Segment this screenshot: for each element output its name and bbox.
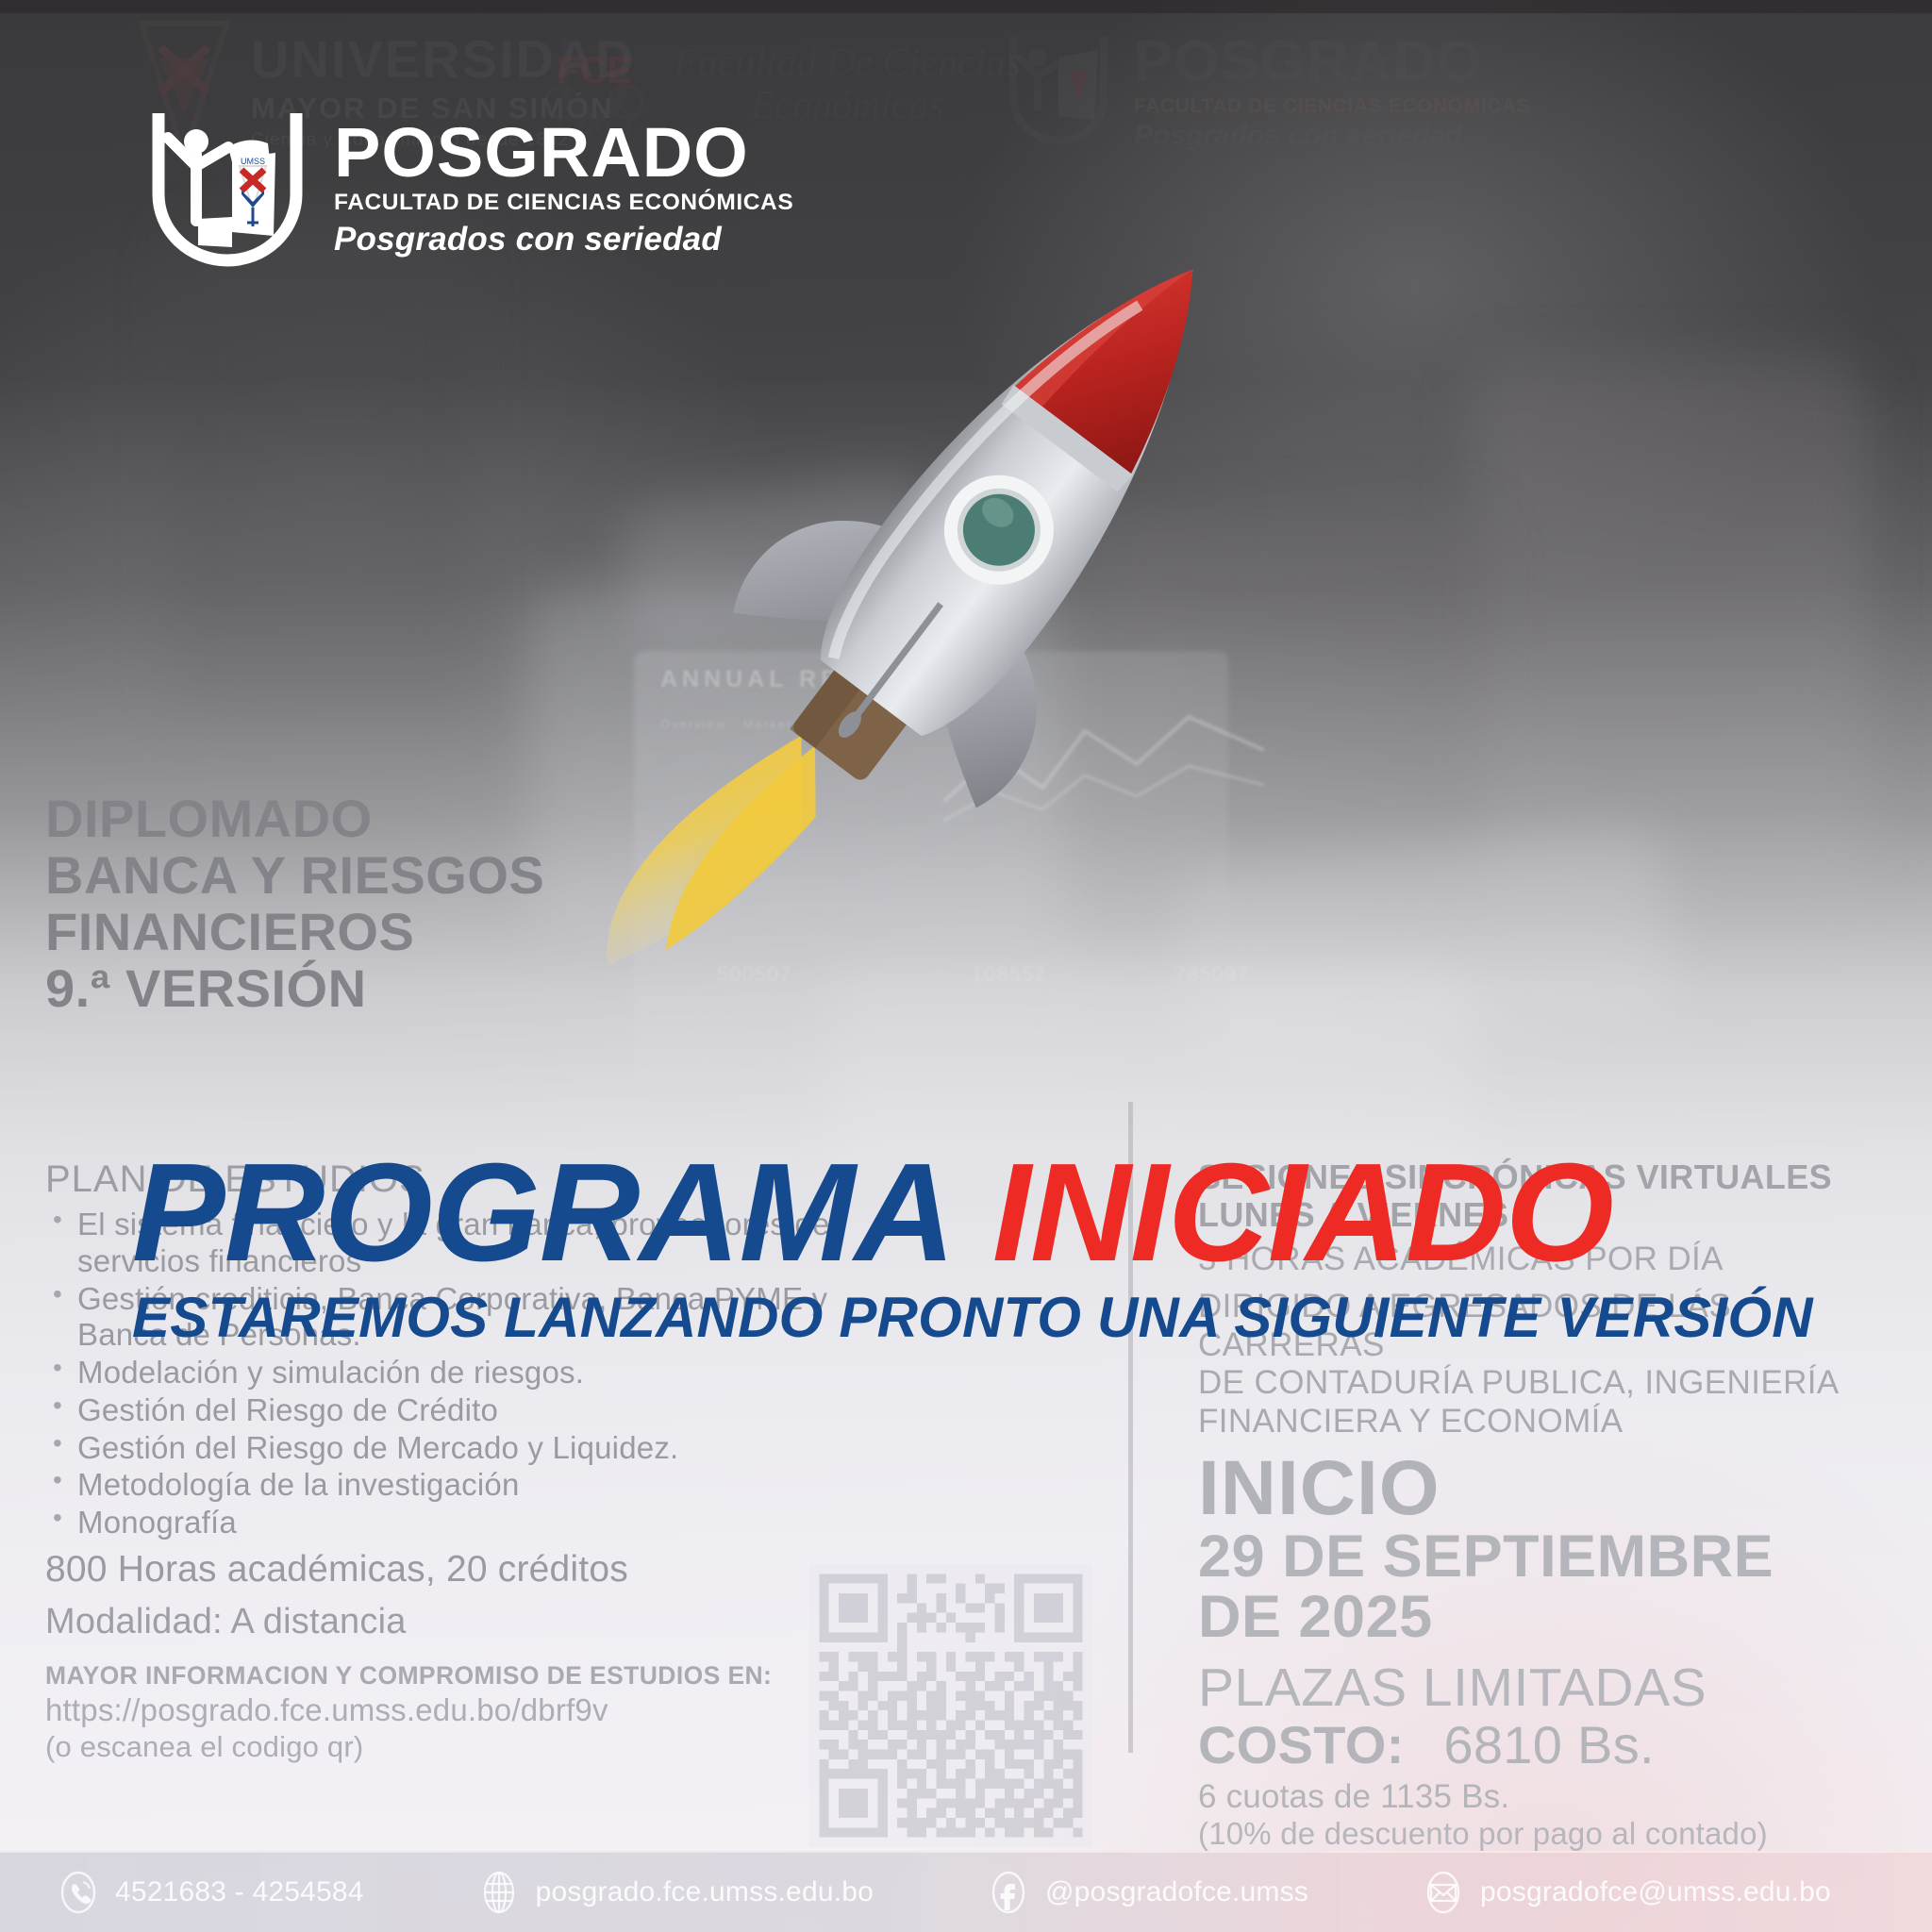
plazas-limitadas: PLAZAS LIMITADAS xyxy=(1198,1660,1915,1717)
watermark-posgrado: POSGRADO FACULTAD DE CIENCIAS ECONÓMICAS… xyxy=(1000,28,1530,152)
qr-code[interactable] xyxy=(809,1564,1092,1847)
audience-line3: FINANCIERA Y ECONOMÍA xyxy=(1198,1403,1915,1441)
brand-logo: UMSS POSGRADO FACULTAD DE CIENCIAS ECONÓ… xyxy=(142,104,793,275)
stamp-headline: PROGRAMA INICIADO xyxy=(0,1149,1932,1277)
bg-shape-person-left xyxy=(170,226,472,717)
course-version: 9.ª VERSIÓN xyxy=(45,960,894,1017)
program-status-stamp: PROGRAMA INICIADO ESTAREMOS LANZANDO PRO… xyxy=(0,1149,1932,1350)
stamp-subtitle: ESTAREMOS LANZANDO PRONTO UNA SIGUIENTE … xyxy=(0,1285,1932,1350)
stamp-word-programa: PROGRAMA xyxy=(132,1135,955,1291)
module-item: Modelación y simulación de riesgos. xyxy=(45,1355,894,1391)
qr-note: (o escanea el codigo qr) xyxy=(45,1730,894,1764)
course-title-line1: BANCA Y RIESGOS xyxy=(45,847,894,904)
logo-title: POSGRADO xyxy=(334,121,793,185)
inicio-date-line1: 29 DE SEPTIEMBRE xyxy=(1198,1526,1915,1587)
module-item: Gestión del Riesgo de Mercado y Liquidez… xyxy=(45,1430,894,1467)
descuento: (10% de descuento por pago al contado) xyxy=(1198,1816,1915,1852)
course-hours: 800 Horas académicas, 20 créditos xyxy=(45,1549,894,1591)
more-info-label: MAYOR INFORMACION Y COMPROMISO DE ESTUDI… xyxy=(45,1661,894,1690)
footer-phone-text: 4521683 - 4254584 xyxy=(115,1876,364,1908)
watermark-posgrado-title: POSGRADO xyxy=(1134,28,1530,95)
watermark-posgrado-faculty: FACULTAD DE CIENCIAS ECONÓMICAS xyxy=(1134,95,1530,118)
course-kicker: DIPLOMADO xyxy=(45,791,894,847)
footer-website[interactable]: posgrado.fce.umss.edu.bo xyxy=(477,1871,874,1914)
logo-faculty: FACULTAD DE CIENCIAS ECONÓMICAS xyxy=(334,190,793,216)
footer-phone[interactable]: 4521683 - 4254584 xyxy=(57,1871,364,1914)
poster-canvas: ANNUAL REPORT Overview · Market · Total … xyxy=(0,0,1932,1932)
footer-website-text: posgrado.fce.umss.edu.bo xyxy=(536,1876,874,1908)
cuotas: 6 cuotas de 1135 Bs. xyxy=(1198,1778,1915,1816)
footer-facebook[interactable]: @posgradofce.umss xyxy=(987,1871,1308,1914)
inicio-label: INICIO xyxy=(1198,1451,1915,1526)
costo-value: 6810 Bs. xyxy=(1443,1715,1654,1774)
footer-facebook-text: @posgradofce.umss xyxy=(1045,1876,1308,1908)
module-item: Gestión del Riesgo de Crédito xyxy=(45,1392,894,1429)
contact-footer: 4521683 - 4254584 posgrado.fce.umss.edu.… xyxy=(0,1851,1932,1932)
logo-slogan: Posgrados con seriedad xyxy=(334,221,793,258)
facebook-icon xyxy=(987,1871,1030,1914)
enrollment-url[interactable]: https://posgrado.fce.umss.edu.bo/dbrf9v xyxy=(45,1692,894,1728)
top-strip xyxy=(0,0,1932,13)
inicio-date-line2: DE 2025 xyxy=(1198,1587,1915,1647)
costo-row: COSTO: 6810 Bs. xyxy=(1198,1717,1915,1774)
audience-line2: DE CONTADURÍA PUBLICA, INGENIERÍA xyxy=(1198,1364,1915,1403)
footer-email-text: posgradofce@umss.edu.bo xyxy=(1480,1876,1831,1908)
phone-icon xyxy=(57,1871,100,1914)
course-title-line2: FINANCIEROS xyxy=(45,904,894,960)
bg-shape-person-right xyxy=(1472,358,1868,887)
posgrado-mark-icon xyxy=(1000,29,1117,152)
module-item: Monografía xyxy=(45,1505,894,1541)
svg-text:UMSS: UMSS xyxy=(241,157,265,166)
course-title-block: DIPLOMADO BANCA Y RIESGOS FINANCIEROS 9.… xyxy=(45,791,894,1017)
module-item: Metodología de la investigación xyxy=(45,1467,894,1504)
posgrado-logo-icon: UMSS xyxy=(142,104,313,275)
globe-icon xyxy=(477,1871,521,1914)
stamp-word-iniciado: INICIADO xyxy=(992,1135,1613,1291)
envelope-icon xyxy=(1422,1871,1465,1914)
watermark-fce-line1: Facultad De Ciencias xyxy=(674,42,1022,85)
footer-email[interactable]: posgradofce@umss.edu.bo xyxy=(1422,1871,1831,1914)
costo-label: COSTO: xyxy=(1198,1715,1405,1774)
course-modality: Modalidad: A distancia xyxy=(45,1602,894,1642)
